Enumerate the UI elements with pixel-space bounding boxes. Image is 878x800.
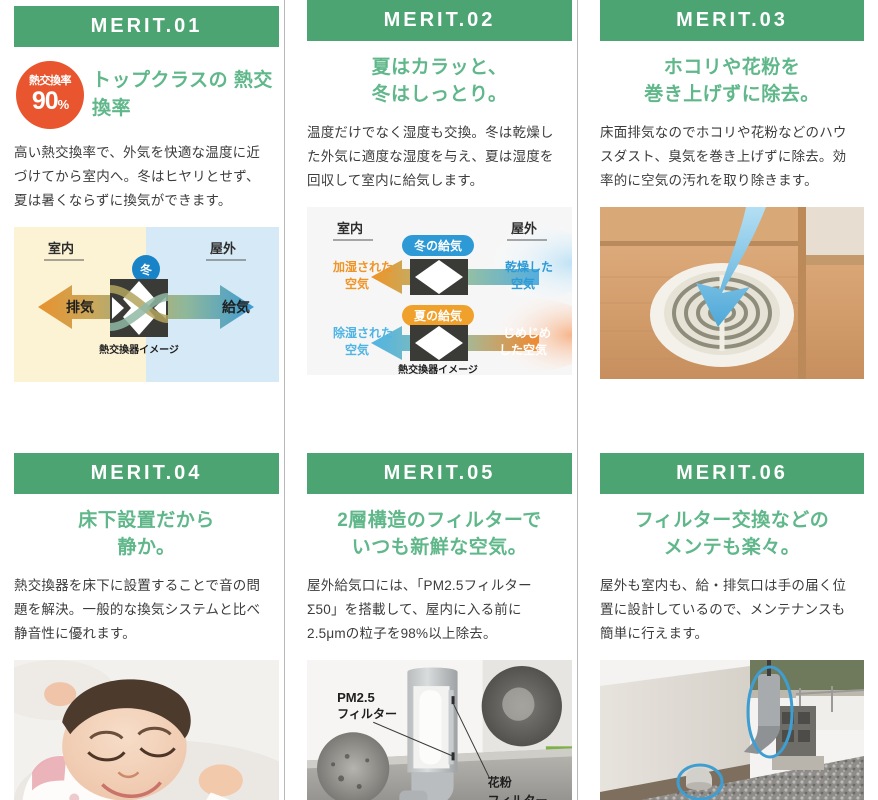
label-humid-air-1: じめじめ: [503, 326, 551, 340]
merit-label-04: MERIT.04: [14, 453, 279, 494]
body-line: づけてから室内へ。冬はヒヤリとせず、: [14, 165, 279, 189]
merit-card-06: MERIT.06 フィルター交換などの メンテも楽々。 屋外も室内も、給・排気口…: [586, 425, 878, 800]
figure-caption: 熱交換器イメージ: [99, 343, 179, 356]
headline-04: 床下設置だから 静か。: [14, 508, 279, 562]
outdoor-supply-duct: [758, 674, 780, 732]
body-line: 床面排気なのでホコリや花粉などのハウ: [600, 121, 864, 145]
body-line: 静音性に優れます。: [14, 622, 279, 646]
body-text-05: 屋外給気口には、「PM2.5フィルター Σ50」を搭載して、屋内に入る前に 2.…: [307, 574, 572, 646]
body-line: Σ50」を搭載して、屋内に入る前に: [307, 598, 572, 622]
label-dry-air-2: 空気: [511, 276, 535, 291]
body-line: 率的に空気の汚れを取り除きます。: [600, 169, 864, 193]
heat-exchanger-cross-svg: 室内 屋外 冬 排気 給気: [14, 227, 279, 382]
label-dehumidified-air-2: 空気: [345, 342, 369, 357]
badge-top-label: 熱交換率: [29, 76, 71, 87]
merit-grid: MERIT.01 熱交換率 90% トップクラスの 熱交換率 高い熱交換率で、外…: [0, 0, 878, 800]
headline-line: 床下設置だから: [14, 508, 279, 535]
photo-floor-vent-svg: [600, 207, 864, 379]
body-line: 屋外給気口には、「PM2.5フィルター: [307, 574, 572, 598]
headline-line: フィルター交換などの: [600, 508, 864, 535]
headline-line: 冬はしっとり。: [307, 82, 572, 109]
headline-line: 2層構造のフィルターで: [307, 508, 572, 535]
badge-unit: %: [58, 97, 69, 112]
body-line: 温度だけでなく湿度も交換。冬は乾燥し: [307, 121, 572, 145]
headline-row-01: 熱交換率 90% トップクラスの 熱交換率: [14, 61, 279, 129]
label-outdoor: 屋外: [210, 241, 236, 256]
pill-winter-label: 冬の給気: [414, 238, 462, 253]
figure-caption: 熱交換器イメージ: [398, 363, 478, 375]
label-indoor: 室内: [48, 241, 74, 256]
body-line: 2.5μmの粒子を98%以上除去。: [307, 622, 572, 646]
headline-03: ホコリや花粉を 巻き上げずに除去。: [600, 55, 864, 109]
body-line: スダスト、臭気を巻き上げずに除去。効: [600, 145, 864, 169]
heat-exchange-rate-badge: 熱交換率 90%: [16, 61, 84, 129]
headline-line: ホコリや花粉を: [600, 55, 864, 82]
label-outdoor: 屋外: [511, 221, 537, 236]
label-humidified-air-2: 空気: [345, 276, 369, 291]
merit-label-05: MERIT.05: [307, 453, 572, 494]
merit-card-04: MERIT.04 床下設置だから 静か。 熱交換器を床下に設置することで音の問 …: [0, 425, 293, 800]
pill-summer-label: 夏の給気: [414, 308, 462, 323]
label-pm25-filter-2: フィルター: [337, 707, 397, 721]
label-dry-air-1: 乾燥した: [505, 259, 553, 274]
merit-card-02: MERIT.02 夏はカラッと、 冬はしっとり。 温度だけでなく湿度も交換。冬は…: [293, 0, 586, 425]
body-line: 屋外も室内も、給・排気口は手の届く位: [600, 574, 864, 598]
body-line: 高い熱交換率で、外気を快適な温度に近: [14, 141, 279, 165]
body-text-03: 床面排気なのでホコリや花粉などのハウ スダスト、臭気を巻き上げずに除去。効 率的…: [600, 121, 864, 193]
photo-floor-vent: [600, 207, 864, 379]
body-line: 題を解決。一般的な換気システムと比べ: [14, 598, 279, 622]
photo-sleeping-baby: [14, 660, 279, 800]
label-season: 冬: [140, 262, 152, 277]
figure-humidity-exchange: 室内 屋外 冬の給気 加湿された 空気 乾燥した 空気 夏の給気: [307, 207, 572, 375]
label-pm25-filter-1: PM2.5: [337, 690, 375, 705]
headline-line: トップクラスの: [92, 70, 228, 91]
headline-05: 2層構造のフィルターで いつも新鮮な空気。: [307, 508, 572, 562]
headline-01: トップクラスの 熱交換率: [92, 67, 279, 122]
merit-card-03: MERIT.03 ホコリや花粉を 巻き上げずに除去。 床面排気なのでホコリや花粉…: [586, 0, 878, 425]
body-line: 簡単に行えます。: [600, 622, 864, 646]
headline-line: 巻き上げずに除去。: [600, 82, 864, 109]
merit-card-01: MERIT.01 熱交換率 90% トップクラスの 熱交換率 高い熱交換率で、外…: [0, 0, 293, 425]
photo-exterior-vents-svg: [600, 660, 864, 800]
label-indoor: 室内: [337, 221, 363, 236]
body-line: 熱交換器を床下に設置することで音の問: [14, 574, 279, 598]
label-pollen-filter-2: フィルター: [488, 794, 548, 800]
figure-heat-exchanger-cross: 室内 屋外 冬 排気 給気: [14, 227, 279, 382]
body-line: 夏は暑くならずに換気ができます。: [14, 189, 279, 213]
headline-line: 夏はカラッと、: [307, 55, 572, 82]
body-line: 回収して室内に給気します。: [307, 169, 572, 193]
photo-exterior-vents: [600, 660, 864, 800]
filter-cartridge: [419, 690, 441, 764]
headline-06: フィルター交換などの メンテも楽々。: [600, 508, 864, 562]
label-supply: 給気: [222, 299, 250, 315]
photo-filter-cutaway: PM2.5 フィルター 花粉 フィルター: [307, 660, 572, 800]
label-dehumidified-air-1: 除湿された: [333, 325, 393, 340]
label-humidified-air-1: 加湿された: [332, 259, 393, 274]
headline-line: いつも新鮮な空気。: [307, 535, 572, 562]
headline-02: 夏はカラッと、 冬はしっとり。: [307, 55, 572, 109]
body-text-04: 熱交換器を床下に設置することで音の問 題を解決。一般的な換気システムと比べ 静音…: [14, 574, 279, 646]
headline-line: 静か。: [14, 535, 279, 562]
merit-card-05: MERIT.05 2層構造のフィルターで いつも新鮮な空気。 屋外給気口には、「…: [293, 425, 586, 800]
merit-label-02: MERIT.02: [307, 0, 572, 41]
merit-label-03: MERIT.03: [600, 0, 864, 41]
merit-label-06: MERIT.06: [600, 453, 864, 494]
badge-number: 90: [32, 87, 58, 115]
humidity-exchange-svg: 室内 屋外 冬の給気 加湿された 空気 乾燥した 空気 夏の給気: [307, 207, 572, 375]
headline-line: メンテも楽々。: [600, 535, 864, 562]
label-exhaust: 排気: [66, 299, 94, 315]
photo-sleeping-baby-svg: [14, 660, 279, 800]
merit-label-01: MERIT.01: [14, 6, 279, 47]
body-text-06: 屋外も室内も、給・排気口は手の届く位 置に設計しているので、メンテナンスも 簡単…: [600, 574, 864, 646]
label-humid-air-2: した空気: [499, 342, 547, 357]
baby-hand: [199, 764, 243, 796]
body-text-02: 温度だけでなく湿度も交換。冬は乾燥し た外気に適度な湿度を与え、夏は湿度を 回収…: [307, 121, 572, 193]
body-line: 置に設計しているので、メンテナンスも: [600, 598, 864, 622]
body-line: た外気に適度な湿度を与え、夏は湿度を: [307, 145, 572, 169]
photo-filter-cutaway-svg: PM2.5 フィルター 花粉 フィルター: [307, 660, 572, 800]
body-text-01: 高い熱交換率で、外気を快適な温度に近 づけてから室内へ。冬はヒヤリとせず、 夏は…: [14, 141, 279, 213]
label-pollen-filter-1: 花粉: [488, 774, 512, 789]
